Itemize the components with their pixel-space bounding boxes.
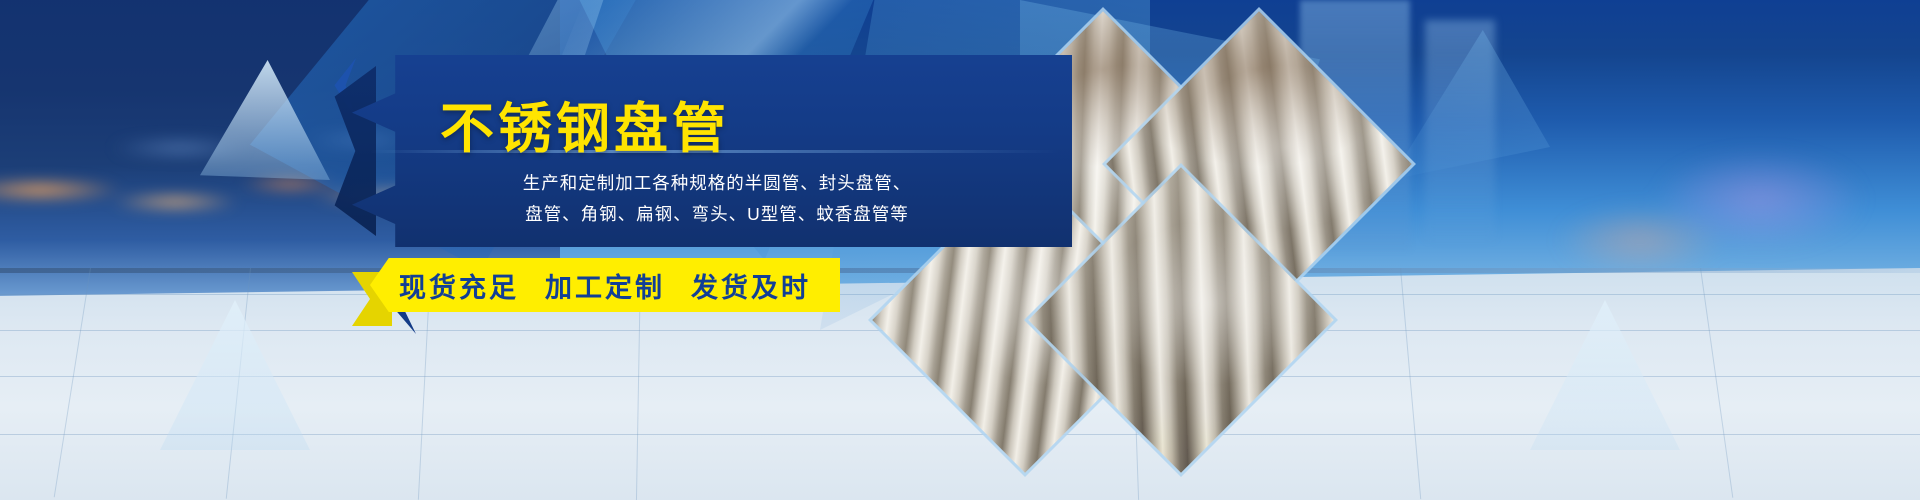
- banner-title: 不锈钢盘管: [440, 84, 1000, 163]
- banner-subtitle-line-2: 盘管、角钢、扁钢、弯头、U型管、蚊香盘管等: [372, 199, 1062, 230]
- highlight-item-3: 发货及时: [691, 266, 811, 305]
- highlight-item-2: 加工定制: [545, 266, 665, 305]
- highlight-item-1: 现货充足: [399, 266, 519, 305]
- product-banner: 不锈钢盘管 生产和定制加工各种规格的半圆管、封头盘管、 盘管、角钢、扁钢、弯头、…: [0, 0, 1920, 500]
- banner-subtitle-line-1: 生产和定制加工各种规格的半圆管、封头盘管、: [372, 168, 1062, 199]
- banner-subtitle: 生产和定制加工各种规格的半圆管、封头盘管、 盘管、角钢、扁钢、弯头、U型管、蚊香…: [372, 168, 1062, 230]
- highlight-list: 现货充足 加工定制 发货及时: [370, 258, 840, 312]
